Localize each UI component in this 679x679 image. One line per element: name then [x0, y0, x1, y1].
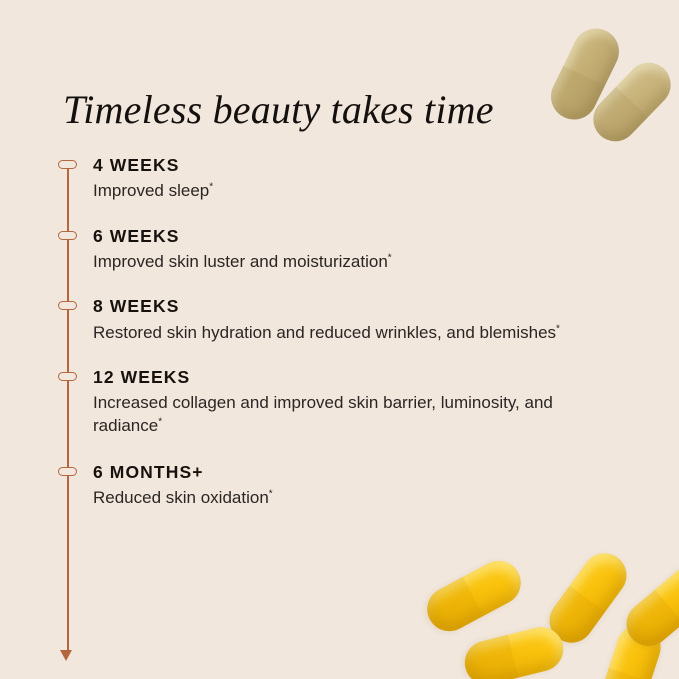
timeline-milestone: 4 WEEKS Improved sleep* — [63, 156, 623, 203]
timeline-arrow-icon — [60, 650, 72, 661]
milestone-footnote-marker: * — [158, 416, 162, 427]
milestone-description-text: Improved sleep — [93, 181, 209, 200]
milestone-description-text: Increased collagen and improved skin bar… — [93, 393, 553, 434]
timeline-tick-icon — [58, 231, 77, 240]
milestone-footnote-marker: * — [209, 182, 213, 193]
milestone-time-label: 4 WEEKS — [93, 156, 623, 175]
infographic-poster: Timeless beauty takes time 4 WEEKS Impro… — [0, 0, 679, 679]
timeline-tick-icon — [58, 301, 77, 310]
timeline-milestone: 8 WEEKS Restored skin hydration and redu… — [63, 297, 623, 344]
milestone-description-text: Reduced skin oxidation — [93, 488, 269, 507]
milestone-footnote-marker: * — [556, 323, 560, 334]
page-title: Timeless beauty takes time — [63, 86, 494, 134]
capsule-yellow-icon — [420, 553, 529, 639]
milestone-time-label: 6 WEEKS — [93, 227, 623, 246]
timeline-milestone: 6 WEEKS Improved skin luster and moistur… — [63, 227, 623, 274]
capsule-yellow-icon — [460, 623, 568, 679]
milestone-time-label: 6 MONTHS+ — [93, 463, 623, 482]
timeline: 4 WEEKS Improved sleep* 6 WEEKS Improved… — [63, 156, 623, 510]
milestone-description-text: Restored skin hydration and reduced wrin… — [93, 323, 556, 342]
milestone-footnote-marker: * — [388, 252, 392, 263]
milestone-description: Restored skin hydration and reduced wrin… — [93, 322, 613, 344]
timeline-tick-icon — [58, 160, 77, 169]
milestone-description: Improved skin luster and moisturization* — [93, 251, 613, 273]
milestone-description: Reduced skin oxidation* — [93, 487, 613, 509]
timeline-tick-icon — [58, 467, 77, 476]
milestone-footnote-marker: * — [269, 489, 273, 500]
milestone-time-label: 8 WEEKS — [93, 297, 623, 316]
milestone-description: Increased collagen and improved skin bar… — [93, 392, 613, 437]
milestone-description: Improved sleep* — [93, 180, 613, 202]
timeline-milestone: 12 WEEKS Increased collagen and improved… — [63, 368, 623, 437]
timeline-milestone: 6 MONTHS+ Reduced skin oxidation* — [63, 463, 623, 510]
milestone-description-text: Improved skin luster and moisturization — [93, 252, 388, 271]
milestone-time-label: 12 WEEKS — [93, 368, 623, 387]
timeline-tick-icon — [58, 372, 77, 381]
